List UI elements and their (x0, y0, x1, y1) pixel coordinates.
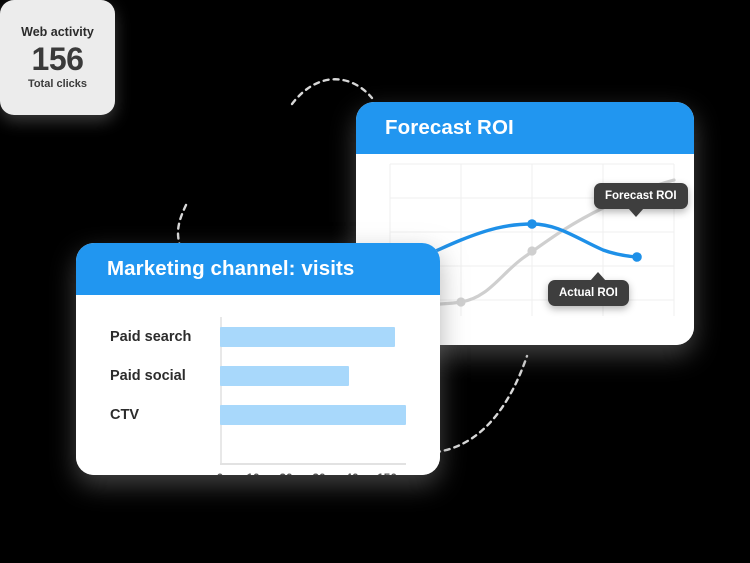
bar-ctv[interactable] (220, 405, 406, 425)
actual-point-2 (632, 252, 642, 262)
tick-0: 0 (217, 471, 224, 475)
bar-paid-social[interactable] (220, 366, 349, 386)
marketing-card-header: Marketing channel: visits (76, 243, 440, 295)
forecast-point-1 (456, 297, 465, 306)
bar-category-labels: Paid search Paid social CTV (110, 317, 220, 434)
bar-label-ctv: CTV (110, 395, 220, 434)
screenshot-stage: Forecast ROI (0, 0, 750, 563)
connector-stat-to-marketing (178, 205, 186, 246)
tooltip-pointer-up (590, 272, 606, 281)
tick-40: 40 (345, 471, 358, 475)
web-activity-stat-card[interactable]: Web activity 156 Total clicks (0, 0, 115, 115)
stat-card-value: 156 (32, 42, 84, 78)
bar-row-paid-search (220, 317, 410, 356)
stat-card-title: Web activity (21, 25, 94, 39)
bar-chart-axis-baseline (220, 463, 406, 465)
forecast-point-2 (527, 246, 536, 255)
marketing-card-title: Marketing channel: visits (107, 257, 354, 281)
tick-20: 20 (279, 471, 292, 475)
bar-label-paid-search: Paid search (110, 317, 220, 356)
tooltip-forecast-roi: Forecast ROI (594, 183, 688, 209)
tooltip-pointer-down (628, 208, 644, 217)
tooltip-actual-roi: Actual ROI (548, 280, 629, 306)
bar-label-paid-social: Paid social (110, 356, 220, 395)
bar-chart-plot (220, 317, 410, 443)
marketing-channel-card[interactable]: Marketing channel: visits Paid search Pa… (76, 243, 440, 475)
tick-150: 150 (377, 471, 397, 475)
bar-paid-search[interactable] (220, 327, 395, 347)
tooltip-actual-label: Actual ROI (559, 287, 618, 299)
connector-stat-to-forecast (292, 79, 372, 104)
stat-card-subtitle: Total clicks (28, 78, 87, 90)
bar-row-paid-social (220, 356, 410, 395)
tick-30: 30 (312, 471, 325, 475)
tooltip-forecast-label: Forecast ROI (605, 190, 677, 202)
actual-point-1 (527, 219, 537, 229)
connector-marketing-to-forecast (425, 356, 527, 453)
marketing-card-body: Paid search Paid social CTV 0 10 (76, 295, 440, 475)
forecast-card-header: Forecast ROI (356, 102, 694, 154)
tick-10: 10 (246, 471, 259, 475)
bar-row-ctv (220, 395, 410, 434)
forecast-card-title: Forecast ROI (385, 116, 514, 140)
